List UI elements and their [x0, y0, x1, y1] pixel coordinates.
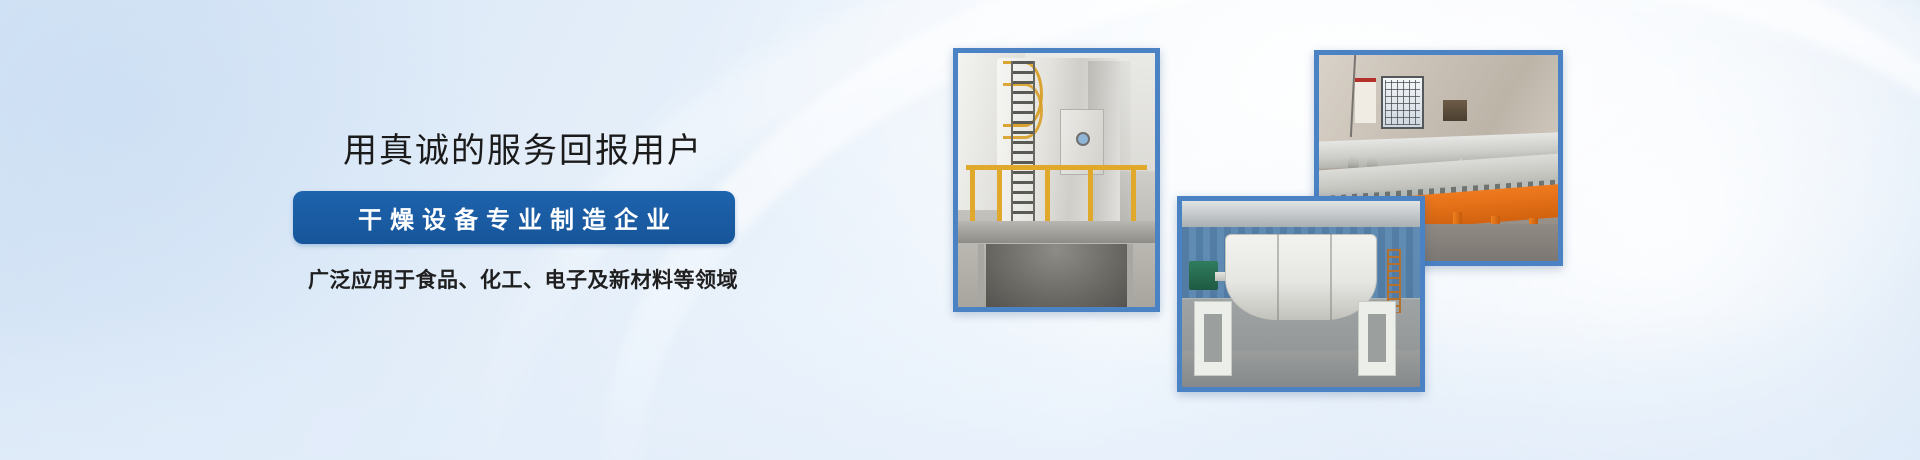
control-box — [1443, 100, 1467, 121]
railing-post-2 — [997, 165, 1002, 226]
photo-ribbon-blender — [1177, 196, 1425, 392]
wall-notice-sign — [1355, 78, 1377, 123]
drum-seam-1 — [1277, 234, 1279, 320]
railing-post-4 — [1088, 165, 1093, 226]
work-platform — [958, 221, 1155, 244]
photo-spray-dryer — [953, 48, 1160, 312]
roof-truss — [1182, 201, 1420, 227]
support-leg-left — [978, 244, 984, 308]
photo-spray-dryer-image — [958, 53, 1155, 307]
support-stand-left — [1194, 301, 1232, 375]
product-photo-collage — [0, 0, 1920, 460]
railing-post-1 — [970, 165, 975, 226]
photo-ribbon-blender-image — [1182, 201, 1420, 387]
railing-post-5 — [1131, 165, 1136, 226]
support-stand-right — [1358, 301, 1396, 375]
railing-post-3 — [1045, 165, 1050, 226]
workshop-window — [1381, 76, 1424, 130]
drum-seam-2 — [1330, 234, 1332, 320]
sight-glass-porthole — [1076, 132, 1090, 146]
hero-banner: 用真诚的服务回报用户 干燥设备专业制造企业 广泛应用于食品、化工、电子及新材料等… — [0, 0, 1920, 460]
mixer-drum — [1225, 234, 1377, 320]
drive-motor — [1189, 261, 1218, 291]
support-leg-right — [1127, 244, 1133, 308]
collection-cone — [986, 244, 1128, 308]
platform-railing — [966, 165, 1147, 221]
